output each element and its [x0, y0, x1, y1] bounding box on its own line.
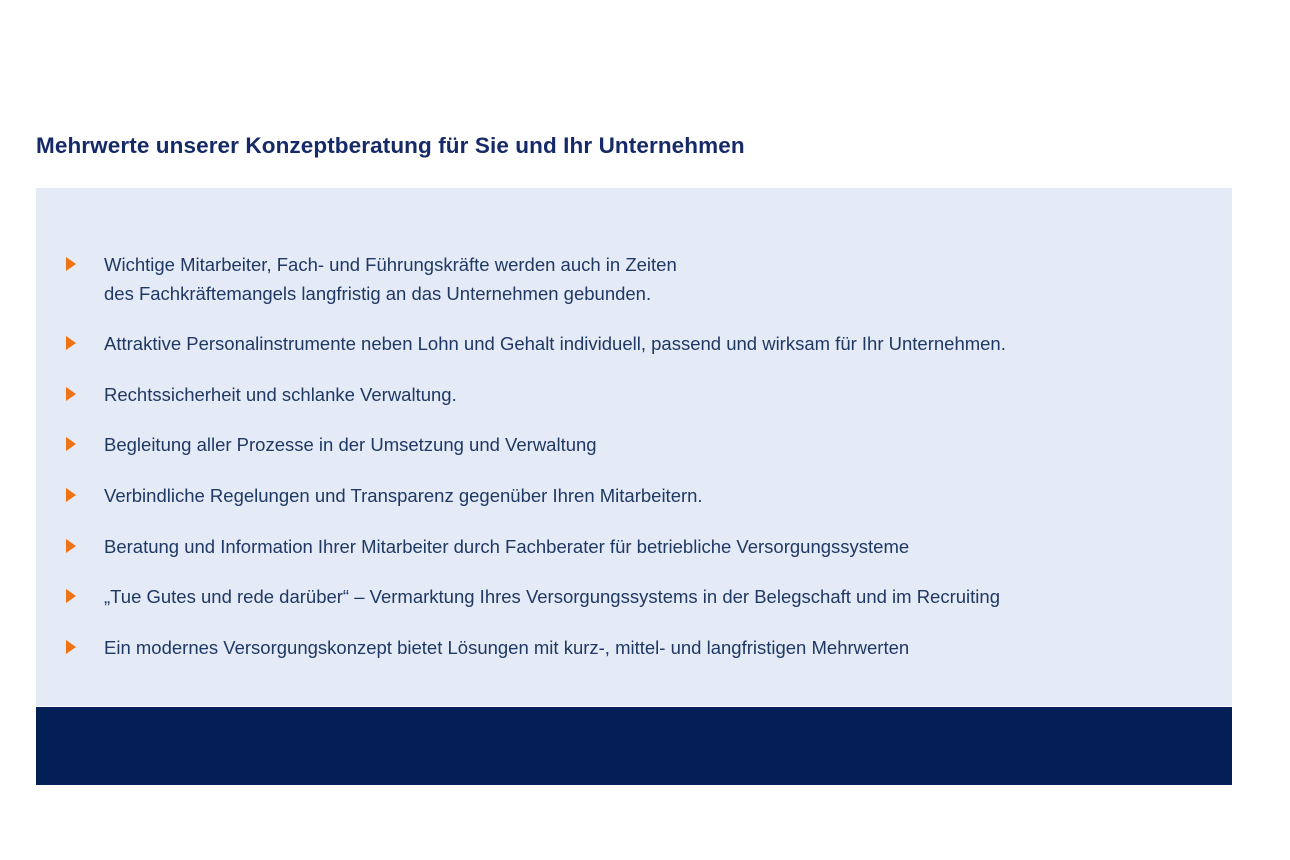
slide-canvas: Mehrwerte unserer Konzeptberatung für Si…	[0, 0, 1290, 860]
triangle-right-icon	[66, 640, 76, 654]
list-item: Ein modernes Versorgungskonzept bietet L…	[66, 633, 909, 683]
content-panel: Wichtige Mitarbeiter, Fach- und Führungs…	[36, 188, 1232, 706]
triangle-right-icon	[66, 437, 76, 451]
list-item: Attraktive Personalinstrumente neben Loh…	[66, 329, 1006, 379]
triangle-right-icon	[66, 539, 76, 553]
list-item-label: Attraktive Personalinstrumente neben Loh…	[104, 329, 1006, 358]
list-item-label: Beratung und Information Ihrer Mitarbeit…	[104, 532, 909, 561]
list-item: Rechtssicherheit und schlanke Verwaltung…	[66, 380, 457, 430]
footer-bar	[36, 707, 1232, 785]
list-item-label: Rechtssicherheit und schlanke Verwaltung…	[104, 380, 457, 409]
list-item-label: Begleitung aller Prozesse in der Umsetzu…	[104, 430, 597, 459]
triangle-right-icon	[66, 589, 76, 603]
list-item: Beratung und Information Ihrer Mitarbeit…	[66, 532, 909, 582]
triangle-right-icon	[66, 257, 76, 271]
triangle-right-icon	[66, 387, 76, 401]
list-item-label: „Tue Gutes und rede darüber“ – Vermarktu…	[104, 582, 1000, 611]
list-item: Begleitung aller Prozesse in der Umsetzu…	[66, 430, 597, 480]
list-item-label: Verbindliche Regelungen und Transparenz …	[104, 481, 703, 510]
list-item-label: Wichtige Mitarbeiter, Fach- und Führungs…	[104, 250, 677, 308]
list-item: „Tue Gutes und rede darüber“ – Vermarktu…	[66, 582, 1000, 632]
triangle-right-icon	[66, 336, 76, 350]
triangle-right-icon	[66, 488, 76, 502]
page-title: Mehrwerte unserer Konzeptberatung für Si…	[36, 133, 745, 159]
list-item: Verbindliche Regelungen und Transparenz …	[66, 481, 703, 531]
list-item: Wichtige Mitarbeiter, Fach- und Führungs…	[66, 250, 677, 300]
list-item-label: Ein modernes Versorgungskonzept bietet L…	[104, 633, 909, 662]
